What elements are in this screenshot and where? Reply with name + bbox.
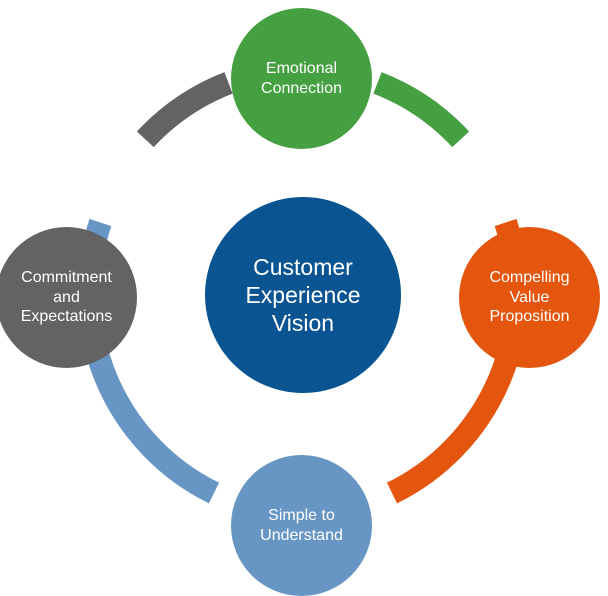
cycle-diagram: Customer Experience Vision Emotional Con… xyxy=(0,0,608,596)
node-simple-to-understand-label: Simple to Understand xyxy=(254,506,349,545)
node-emotional-connection-label: Emotional Connection xyxy=(255,59,348,98)
node-commitment-and-expectations-label: Commitment and Expectations xyxy=(15,268,119,327)
arc-left-top[interactable] xyxy=(145,83,228,139)
arc-top-right[interactable] xyxy=(378,83,461,139)
center-node-label: Customer Experience Vision xyxy=(239,253,366,337)
node-compelling-value-proposition-label: Compelling Value Proposition xyxy=(483,268,575,327)
node-emotional-connection[interactable]: Emotional Connection xyxy=(231,8,372,149)
node-compelling-value-proposition[interactable]: Compelling Value Proposition xyxy=(459,227,600,368)
center-node-customer-experience-vision[interactable]: Customer Experience Vision xyxy=(205,197,401,393)
node-simple-to-understand[interactable]: Simple to Understand xyxy=(231,455,372,596)
node-commitment-and-expectations[interactable]: Commitment and Expectations xyxy=(0,227,137,368)
